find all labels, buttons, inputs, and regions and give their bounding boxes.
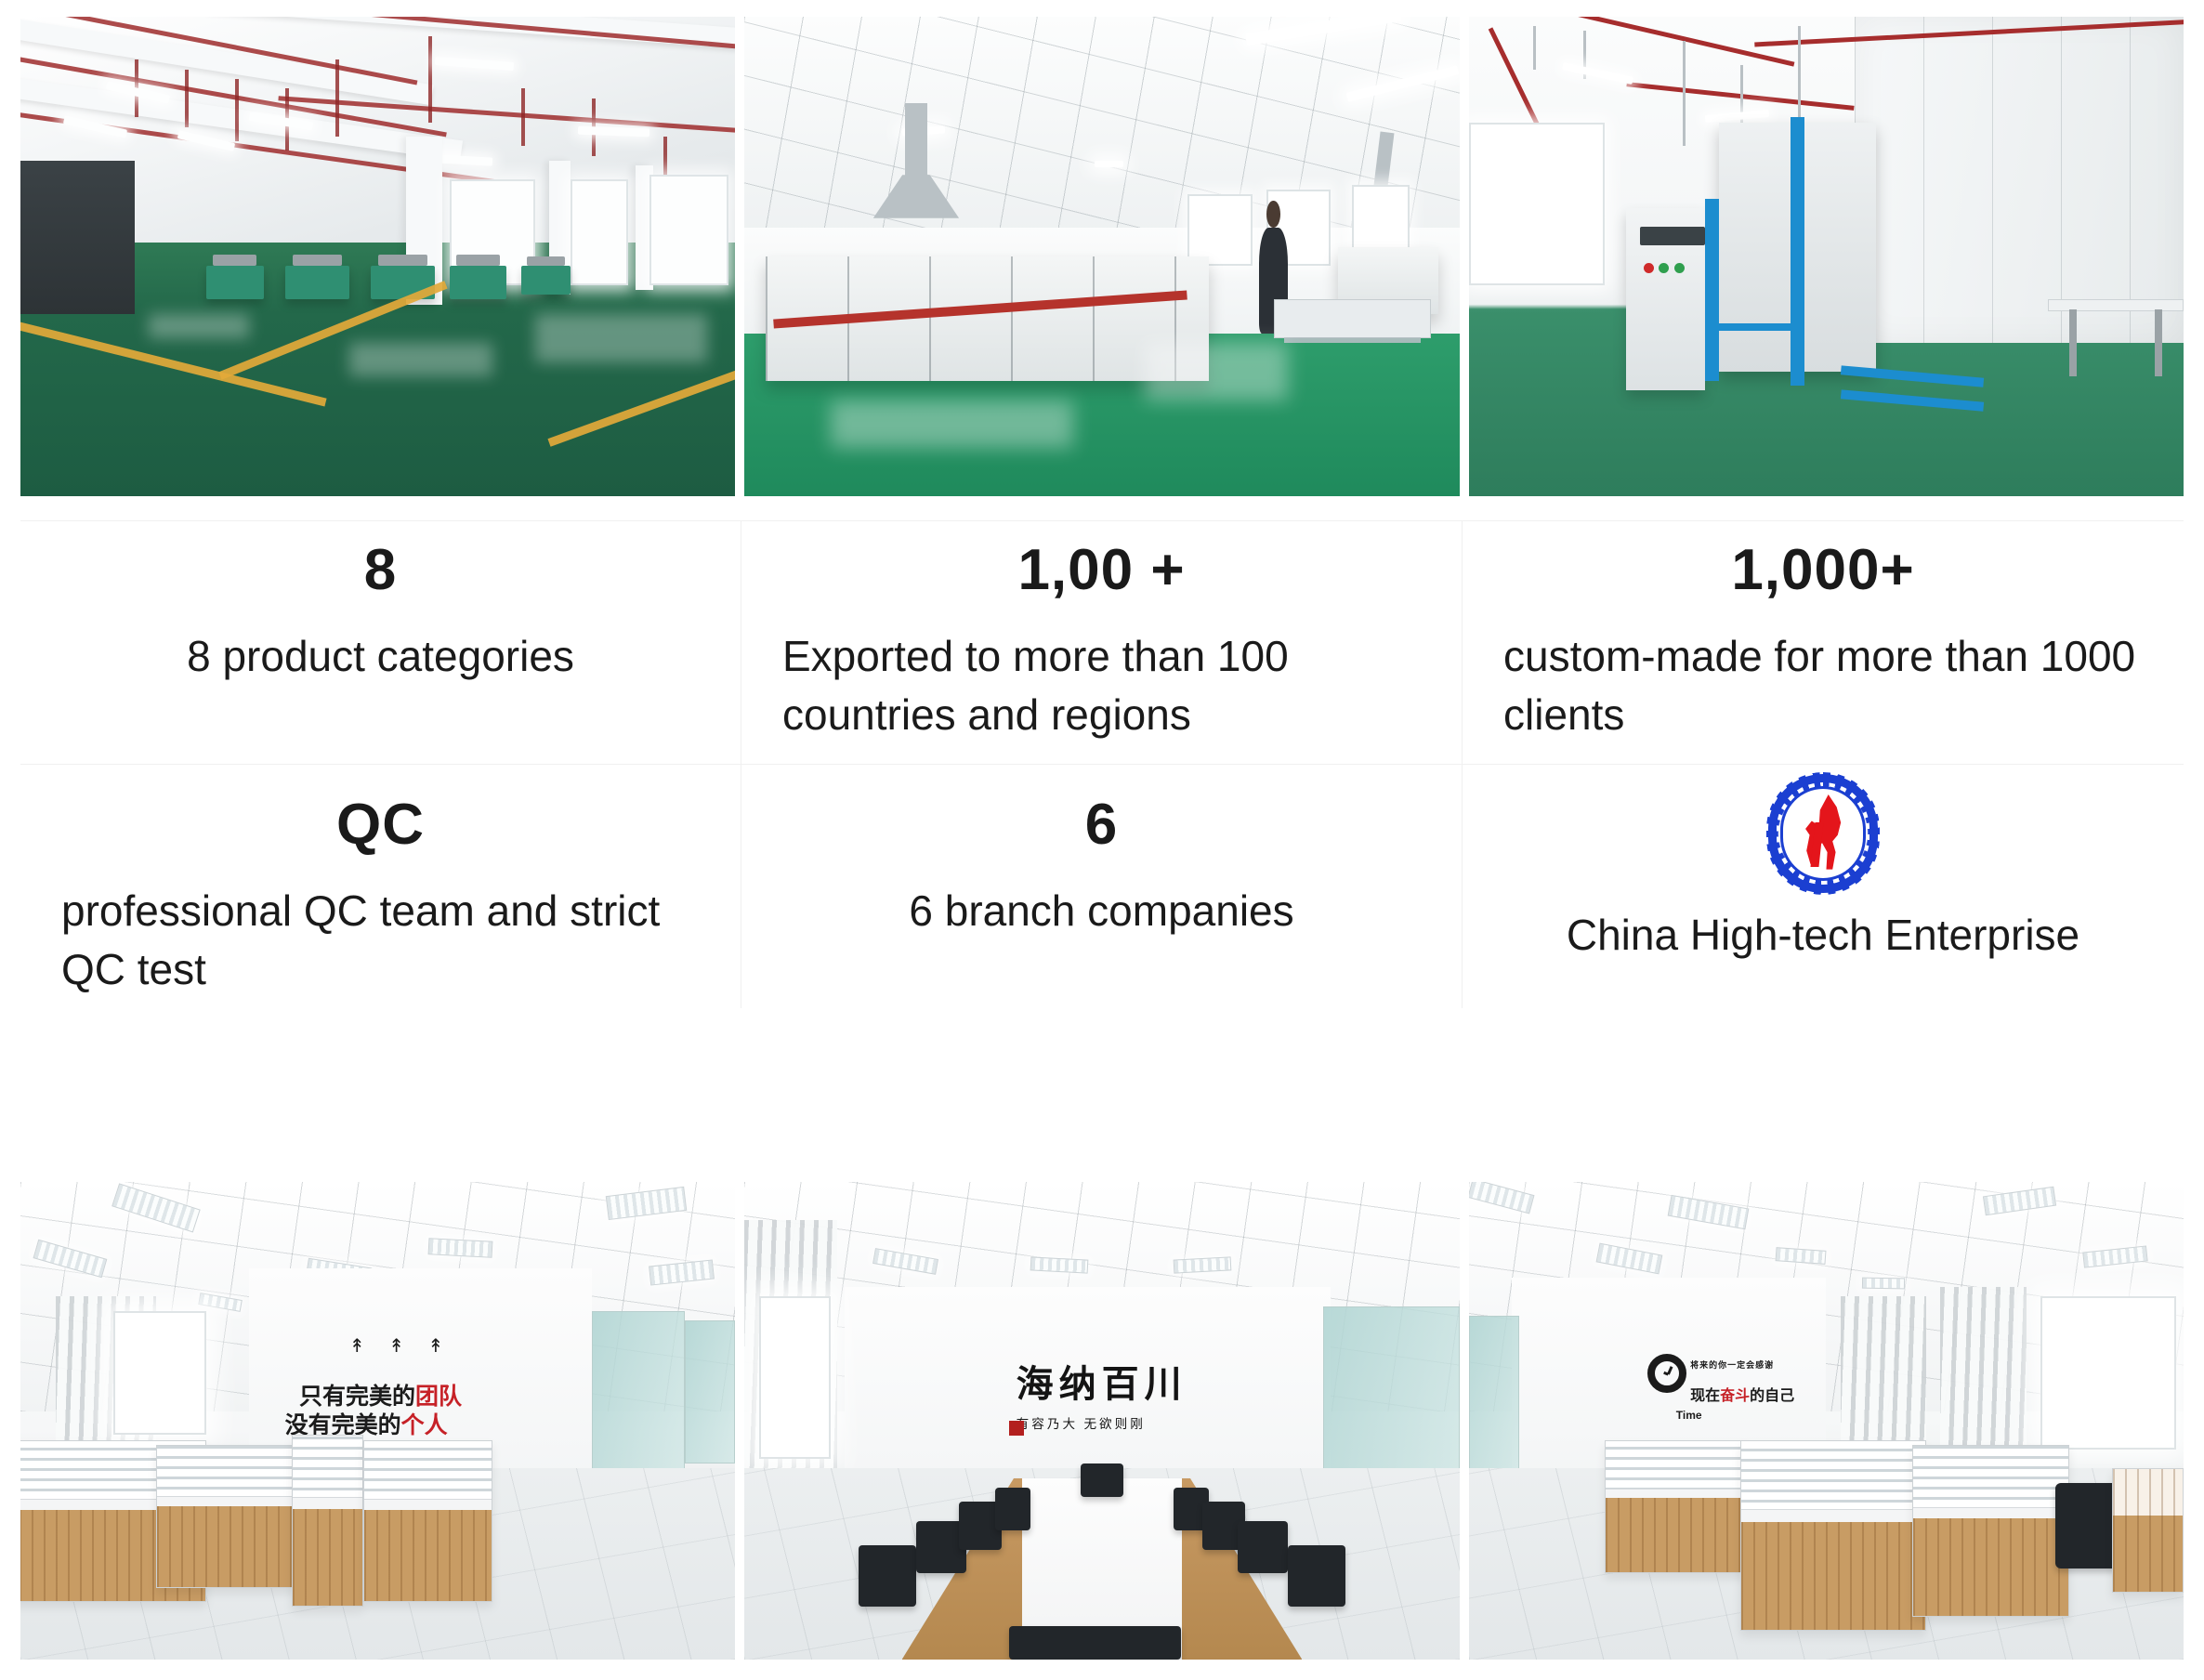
calligraphy-seal	[1009, 1421, 1024, 1436]
meeting-room-window	[759, 1296, 831, 1459]
office-window	[113, 1311, 206, 1436]
production-bench	[285, 266, 349, 299]
side-cabinet	[2112, 1468, 2184, 1593]
control-cabinet	[1626, 208, 1705, 390]
cabinet-button	[1659, 263, 1669, 273]
stat-caption-branch-companies: 6 branch companies	[782, 882, 1421, 940]
cabinet-wood-panel	[2113, 1469, 2183, 1592]
meeting-chair	[859, 1545, 916, 1608]
floor-reflection	[149, 314, 249, 338]
meeting-chair	[1288, 1545, 1345, 1608]
oven-room-window	[1187, 194, 1252, 266]
stat-cell-china-high-tech-enterprise: China High-tech Enterprise	[1463, 765, 2184, 1008]
wall-calligraphy: 海纳百川 有容乃大 无欲则刚	[1017, 1354, 1187, 1432]
bottom-photo-row: ↟ ↟ ↟ 只有完美的团队 没有完美的个人	[20, 1182, 2184, 1660]
clock-icon	[1647, 1354, 1686, 1393]
cubicle-glass-top	[1741, 1441, 1925, 1513]
certification-logo-wrap: China High-tech Enterprise	[1503, 774, 2143, 964]
cubicle-partition	[1740, 1440, 1926, 1632]
ceiling-light	[1095, 161, 1123, 167]
ceiling-hanger	[1533, 26, 1536, 69]
pipe-drop	[235, 79, 239, 141]
stat-cell-export-countries: 1,00 + Exported to more than 100 countri…	[741, 521, 1463, 765]
cubicle-wood-panel	[1606, 1498, 1747, 1573]
meeting-chair	[995, 1488, 1030, 1530]
cubicle-worktop	[157, 1496, 312, 1506]
company-stats-grid: 8 8 product categories 1,00 + Exported t…	[20, 520, 2184, 1162]
production-bench	[450, 266, 507, 299]
ceiling-hanger	[1683, 41, 1686, 147]
industrial-furnace-photo	[1469, 17, 2184, 496]
slogan-brand-text: Time	[1676, 1409, 1702, 1422]
slogan-line2-red: 奋斗	[1720, 1388, 1750, 1404]
stat-number-export-countries: 1,00 +	[782, 542, 1421, 599]
factory-workshop-photo	[20, 17, 735, 496]
cubicle-partition	[292, 1435, 363, 1607]
stat-cell-custom-made-clients: 1,000+ custom-made for more than 1000 cl…	[1463, 521, 2184, 765]
cubicle-worktop	[293, 1497, 362, 1509]
tunnel-oven-line-photo	[744, 17, 1459, 496]
pipe-drop	[335, 59, 339, 137]
ceiling-light	[1704, 110, 1769, 123]
cubicle-worktop	[1741, 1509, 1925, 1522]
stat-number-custom-made-clients: 1,000+	[1503, 542, 2143, 599]
floor-reflection	[831, 400, 1074, 449]
cubicle-partition	[1912, 1445, 2069, 1617]
high-tech-torch-seal-icon	[1768, 774, 1878, 893]
slogan-line2-red: 个人	[401, 1412, 448, 1438]
cubicle-glass-top	[1913, 1446, 2068, 1511]
stat-cell-product-categories: 8 8 product categories	[20, 521, 741, 765]
calligraphy-main: 海纳百川	[1017, 1363, 1187, 1405]
cubicle-partition	[363, 1440, 492, 1603]
cubicle-worktop	[364, 1499, 491, 1510]
meeting-chair	[1238, 1521, 1288, 1574]
slogan-line1-red: 团队	[415, 1384, 462, 1410]
certification-caption: China High-tech Enterprise	[1567, 908, 2079, 964]
workshop-window	[571, 179, 628, 285]
pipe-drop	[185, 70, 189, 127]
stat-caption-custom-made-clients: custom-made for more than 1000 clients	[1503, 627, 2143, 745]
floor-reflection	[349, 343, 492, 376]
cabinet-gauge	[1681, 227, 1705, 245]
furnace-room-window	[1469, 123, 1605, 285]
furnace-room-wall	[1855, 17, 2184, 343]
stainless-work-table	[1274, 299, 1431, 337]
cubicle-wood-panel	[1913, 1518, 2068, 1615]
furnace-frame	[1705, 323, 1798, 331]
workshop-dark-room	[20, 161, 135, 314]
desk-leg	[2155, 309, 2162, 376]
side-desk	[2048, 299, 2184, 310]
cubicle-wood-panel	[157, 1506, 312, 1587]
window-curtain	[1841, 1296, 1926, 1459]
wall-slogan-latin-line: 将来的你一定会感谢	[1690, 1358, 1774, 1371]
slogan-line2-post: 的自己	[1750, 1388, 1794, 1404]
ceiling-panel-light	[1862, 1277, 1905, 1289]
furnace-base-rail	[1841, 389, 1984, 412]
stat-number-product-categories: 8	[61, 542, 700, 599]
calligraphy-sub: 有容乃大 无欲则刚	[1017, 1413, 1187, 1432]
window-curtain	[1940, 1287, 2026, 1459]
stat-caption-product-categories: 8 product categories	[61, 627, 700, 686]
stat-caption-export-countries: Exported to more than 100 countries and …	[782, 627, 1421, 745]
desk-leg	[2069, 309, 2077, 376]
workshop-window	[649, 175, 728, 285]
company-profile-page: 8 8 product categories 1,00 + Exported t…	[0, 0, 2204, 1680]
wall-slogan-brand: Time	[1676, 1409, 1702, 1422]
meeting-chair	[1081, 1463, 1123, 1497]
slogan-line2-black: 没有完美的	[285, 1412, 401, 1438]
cabinet-button	[1674, 263, 1685, 273]
office-workstations-photo: 将来的你一定会感谢 现在奋斗的自己 Time	[1469, 1182, 2184, 1660]
stat-number-branch-companies: 6	[782, 796, 1421, 854]
meeting-room-photo: 海纳百川 有容乃大 无欲则刚	[744, 1182, 1459, 1660]
production-bench	[521, 266, 571, 295]
cubicle-glass-top	[1606, 1441, 1747, 1491]
slogan-line1-black: 只有完美的	[299, 1384, 415, 1410]
floor-reflection	[1145, 343, 1288, 400]
pipe-drop	[428, 36, 432, 123]
cubicle-wood-panel	[293, 1509, 362, 1606]
office-window	[2040, 1296, 2176, 1449]
stat-caption-qc-team: professional QC team and strict QC test	[61, 882, 700, 1000]
slogan-latin-text: 将来的你一定会感谢	[1690, 1360, 1774, 1370]
cubicle-partition	[1605, 1440, 1748, 1574]
cubicle-glass-top	[293, 1436, 362, 1501]
ceiling-panel-light	[427, 1238, 492, 1258]
top-photo-row	[20, 17, 2184, 496]
cabinet-button	[1644, 263, 1654, 273]
furnace-base-rail	[1841, 365, 1984, 387]
cubicle-wood-panel	[364, 1510, 491, 1601]
cubicle-wood-panel	[1741, 1522, 1925, 1630]
stat-number-qc-team: QC	[61, 796, 700, 854]
floor-lane-marking	[548, 365, 736, 446]
furnace-frame	[1705, 199, 1719, 381]
slogan-line2-pre: 现在	[1690, 1388, 1720, 1404]
glass-partition-wall	[592, 1311, 685, 1474]
cubicle-worktop	[1913, 1507, 2068, 1519]
wall-slogan-line2: 现在奋斗的自己	[1690, 1383, 1794, 1405]
ceiling-light	[1562, 62, 1633, 85]
office-cubicles-photo: ↟ ↟ ↟ 只有完美的团队 没有完美的个人	[20, 1182, 735, 1660]
extraction-duct	[905, 103, 926, 180]
pipe-drop	[521, 88, 525, 146]
meeting-chair	[1009, 1626, 1181, 1660]
stat-cell-qc-team: QC professional QC team and strict QC te…	[20, 765, 741, 1008]
cubicle-glass-top	[157, 1446, 312, 1500]
glass-partition-wall	[685, 1320, 735, 1463]
glass-partition-wall	[1469, 1316, 1519, 1488]
production-bench	[206, 266, 264, 299]
cubicle-worktop	[1606, 1489, 1747, 1498]
bird-decals: ↟ ↟ ↟	[349, 1334, 453, 1358]
ceiling-hanger	[1798, 26, 1801, 132]
cubicle-partition	[156, 1445, 313, 1588]
floor-reflection	[535, 314, 707, 362]
stat-cell-branch-companies: 6 6 branch companies	[741, 765, 1463, 1008]
furnace-frame	[1791, 117, 1804, 386]
cubicle-glass-top	[364, 1441, 491, 1503]
